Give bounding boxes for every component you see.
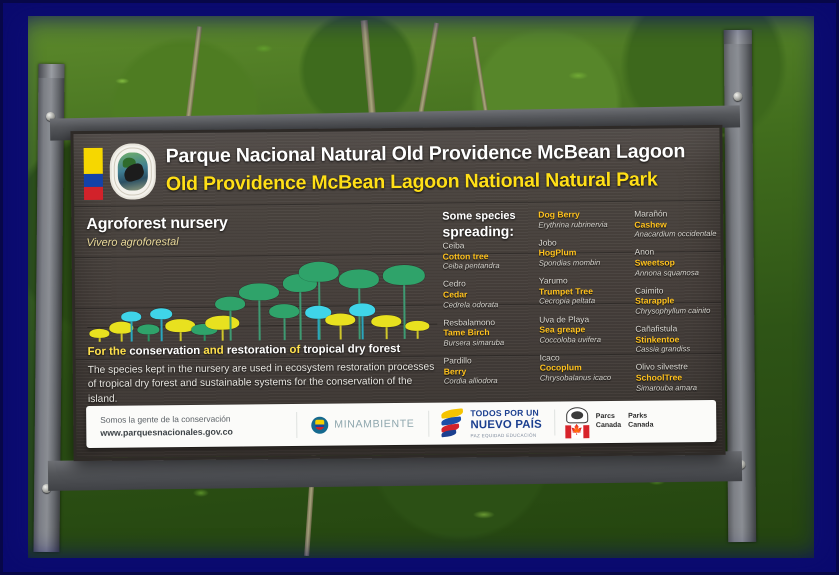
nursery-title-english: Agroforest nursery [86,213,434,234]
conservation-body-text: The species kept in the nursery are used… [88,361,440,408]
minambiente-seal-icon [311,416,328,433]
species-name-english: HogPlum [539,247,625,259]
species-name-scientific: Spondias mombin [539,258,625,268]
species-name-spanish: Jobo [538,237,624,248]
flag-bar-red [84,187,103,200]
tree-canopy [239,283,279,300]
species-entry: YarumoTrumpet TreeCecropia peltata [539,275,625,307]
tree-canopy [339,269,379,288]
tree-canopy [383,265,425,285]
photo-frame: Parque Nacional Natural Old Providence M… [0,0,839,575]
sign-header: Parque Nacional Natural Old Providence M… [73,128,720,206]
species-name-scientific: Cordia alliodora [444,376,530,386]
parks-canada-en: Parks Canada [628,413,653,431]
colombia-ribbon-icon [441,409,465,437]
footer-website[interactable]: www.parquesnacionales.gov.co [100,425,296,440]
headline-fragment: and [200,345,227,357]
headline-fragment: conservation [129,345,200,358]
headline-fragment: restoration [227,344,287,357]
post-bolt [733,92,742,101]
species-name-english: Cocoplum [540,362,626,374]
species-entry: Olivo silvestreSchoolTreeSimarouba amara [636,361,722,393]
headline-fragment: tropical dry forest [303,343,400,356]
minambiente-label: MINAMBIENTE [334,418,414,431]
beaver-body [571,411,583,419]
headline-fragment: of [286,344,303,356]
canada-flag-icon: 🍁 [565,425,589,438]
parcs-canada-line1: Parcs [596,413,621,422]
species-name-english: Cotton tree [443,250,529,262]
sponsor-footer-bar: Somos la gente de la conservación www.pa… [86,400,716,448]
agroforest-succession-illustration [87,247,438,342]
species-name-scientific: Cecropia peltata [539,296,625,306]
maple-leaf-icon: 🍁 [571,426,584,436]
species-name-english: Starapple [635,295,721,307]
illustration-tree [405,321,429,339]
tree-canopy [150,308,172,319]
colombia-flag-icon [84,148,103,200]
colombia-shield-icon [315,420,324,430]
tree-canopy [121,311,141,321]
species-entry: MarañónCashewAnacardium occidentale [634,208,720,240]
ribbon-stripe-dark [441,430,457,438]
species-entry: CaimitoStarappleChrysophyllum cainito [635,285,721,317]
species-column-2: Dog BerryErythrina rubrinerviaJoboHogPlu… [538,209,626,402]
species-name-english: SchoolTree [636,372,722,384]
interpretive-sign-panel: Parque Nacional Natural Old Providence M… [70,125,725,461]
nursery-heading-block: Agroforest nursery Vivero agroforestal [86,213,434,249]
species-name-english: Berry [444,365,530,377]
species-name-scientific: Simarouba amara [636,383,722,393]
species-entry: IcacoCocoplumChrysobalanus icaco [540,352,626,384]
species-name-scientific: Cassia grandiss [636,344,722,354]
species-name-scientific: Coccoloba uvifera [539,335,625,345]
species-name-spanish: Marañón [634,208,720,219]
species-name-english: Stinkentoe [635,333,721,345]
species-entry: Dog BerryErythrina rubrinervia [538,209,624,230]
flag-bar-right [583,425,589,438]
todos-line3: PAZ EQUIDAD EDUCACIÓN [471,432,542,438]
tree-canopy [299,262,339,282]
todos-por-un-nuevo-pais-logo: TODOS POR UN NUEVO PAÍS PAZ EQUIDAD EDUC… [429,408,554,439]
flag-bar-blue [84,174,103,187]
species-name-scientific: Annona squamosa [635,267,721,277]
parks-canada-logo: 🍁 Parcs Canada Parks Canada [555,406,664,438]
parcs-canada-line2: Canada [596,422,621,431]
species-column-1: CeibaCotton treeCeiba pentandraCedroCeda… [442,210,530,403]
species-name-scientific: Bursera simaruba [443,338,529,348]
species-name-scientific: Erythrina rubrinervia [538,220,624,230]
species-entry: Uva de PlayaSea greapeCoccoloba uvifera [539,313,625,345]
species-entry: ResbalamonoTame BirchBursera simaruba [443,316,529,348]
parks-canada-line2: Canada [628,422,653,431]
species-name-english: Dog Berry [538,209,624,221]
headline-fragment: For the [87,346,129,358]
tree-canopy [89,329,109,338]
species-column-3: MarañónCashewAnacardium occidentaleAnonS… [634,208,722,401]
species-entry: CañafistulaStinkentoeCassia grandiss [635,323,721,355]
species-name-english: Trumpet Tree [539,286,625,298]
flag-bar-yellow [84,148,103,174]
illustration-tree [89,329,109,342]
species-section: Some species spreading: CeibaCotton tree… [442,208,720,240]
minambiente-logo: MINAMBIENTE [297,415,428,433]
species-name-scientific: Chrysophyllum cainito [635,306,721,316]
page-title-spanish: Parque Nacional Natural Old Providence M… [166,140,686,168]
species-name-english: Cedar [443,289,529,301]
parcs-canada-fr: Parcs Canada [596,413,621,431]
todos-line2: NUEVO PAÍS [470,418,542,432]
species-name-english: Tame Birch [443,327,529,339]
species-name-scientific: Ceiba pentandra [443,261,529,271]
species-name-scientific: Anacardium occidentale [634,229,720,239]
species-name-scientific: Chrysobalanus icaco [540,373,626,383]
flag-center: 🍁 [571,425,583,438]
parks-canada-beaver-icon [566,407,588,423]
species-name-english: Sweetsop [635,257,721,269]
tree-canopy [405,321,429,331]
species-columns: CeibaCotton treeCeiba pentandraCedroCeda… [442,208,722,402]
species-name-english: Sea greape [539,324,625,336]
species-entry: CeibaCotton treeCeiba pentandra [442,240,528,272]
species-name-english: Cashew [634,218,720,230]
post-cap [38,64,64,78]
footer-tagline-block: Somos la gente de la conservación www.pa… [86,412,296,440]
page-title-english: Old Providence McBean Lagoon National Na… [166,169,658,197]
post-cap [724,30,752,44]
species-name-scientific: Cedrela odorata [443,299,529,309]
species-entry: AnonSweetsopAnnona squamosa [635,246,721,278]
parques-nacionales-emblem-icon [110,143,157,199]
species-entry: CedroCedarCedrela odorata [443,278,529,310]
emblem-ring [114,147,152,195]
todos-line1: TODOS POR UN [470,408,542,419]
species-entry: PardilloBerryCordia alliodora [444,355,530,387]
species-entry: JoboHogPlumSpondias mombin [538,237,624,269]
parks-canada-line1: Parks [628,413,653,422]
todos-text-block: TODOS POR UN NUEVO PAÍS PAZ EQUIDAD EDUC… [470,408,542,438]
